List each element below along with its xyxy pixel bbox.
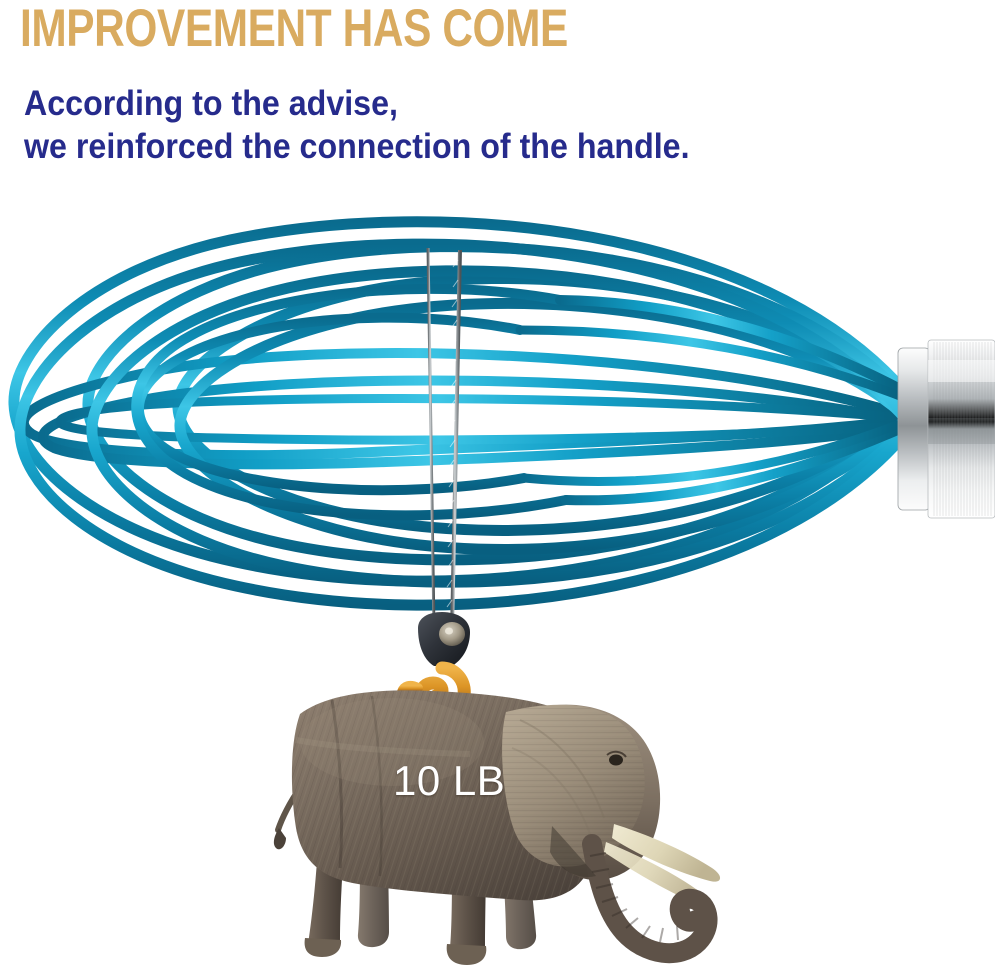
weight-label: 10 LB bbox=[393, 757, 505, 805]
lift-cable bbox=[452, 250, 460, 632]
elephant-foot bbox=[447, 944, 487, 965]
crane-hook-assembly bbox=[402, 612, 470, 714]
elephant-leg bbox=[502, 852, 536, 949]
cable-braid-texture bbox=[447, 260, 458, 625]
handle-body bbox=[928, 340, 995, 518]
handle-core-shade bbox=[928, 418, 995, 444]
whisk-wire bbox=[43, 381, 900, 465]
product-banner: IMPROVEMENT HAS COME According to the ad… bbox=[0, 0, 995, 978]
whisk-wire-basket bbox=[14, 222, 905, 605]
elephant-trunk bbox=[592, 844, 708, 953]
whisk-wire bbox=[566, 428, 902, 500]
handle-collar bbox=[898, 348, 930, 510]
page-title: IMPROVEMENT HAS COME bbox=[20, 2, 568, 55]
elephant-leg bbox=[308, 846, 344, 955]
handle-highlight bbox=[928, 360, 995, 382]
subtitle-block: According to the advise, we reinforced t… bbox=[24, 82, 690, 168]
whisk-wire bbox=[60, 399, 903, 441]
whisk-wire bbox=[524, 424, 900, 482]
hook-tip bbox=[402, 686, 418, 692]
whisk-wire bbox=[520, 330, 900, 396]
elephant-tail bbox=[278, 788, 300, 830]
hook-block bbox=[418, 612, 470, 666]
elephant-head bbox=[541, 705, 660, 880]
elephant-tusk bbox=[612, 824, 720, 882]
whisk-wire bbox=[180, 303, 903, 549]
subtitle-line-1: According to the advise, bbox=[24, 82, 690, 125]
elephant bbox=[274, 680, 720, 965]
elephant-tusk bbox=[604, 842, 706, 904]
hook-shank bbox=[436, 660, 448, 670]
whisk-wire bbox=[139, 318, 524, 491]
elephant-trunk-rings bbox=[590, 853, 678, 942]
elephant-ear bbox=[502, 705, 645, 867]
lift-cable-group bbox=[428, 248, 460, 632]
whisk-wire bbox=[14, 222, 905, 581]
elephant-foot bbox=[305, 938, 342, 957]
hook-sheave bbox=[439, 622, 465, 646]
whisk-wire bbox=[20, 244, 905, 605]
hook-sheave-pin bbox=[445, 628, 453, 635]
stainless-steel-handle bbox=[898, 340, 995, 518]
crane-hook bbox=[421, 668, 464, 714]
whisk-wire bbox=[24, 353, 900, 455]
whisk-wire bbox=[92, 271, 905, 582]
whisk-wire bbox=[560, 300, 902, 390]
whisk-wire bbox=[88, 247, 905, 560]
whisk-wire bbox=[178, 278, 903, 530]
subtitle-line-2: we reinforced the connection of the hand… bbox=[24, 125, 690, 168]
lift-cable bbox=[428, 248, 434, 630]
handle-brushed-texture bbox=[934, 342, 991, 516]
elephant-leg bbox=[358, 848, 389, 947]
elephant-ear-texture bbox=[495, 695, 660, 875]
elephant-leg bbox=[450, 856, 486, 962]
elephant-eye bbox=[609, 755, 623, 766]
whisk-wire bbox=[136, 289, 566, 515]
elephant-tail-tuft bbox=[274, 828, 286, 849]
elephant-shadow bbox=[550, 826, 596, 877]
elephant-eye-lid bbox=[607, 752, 626, 757]
